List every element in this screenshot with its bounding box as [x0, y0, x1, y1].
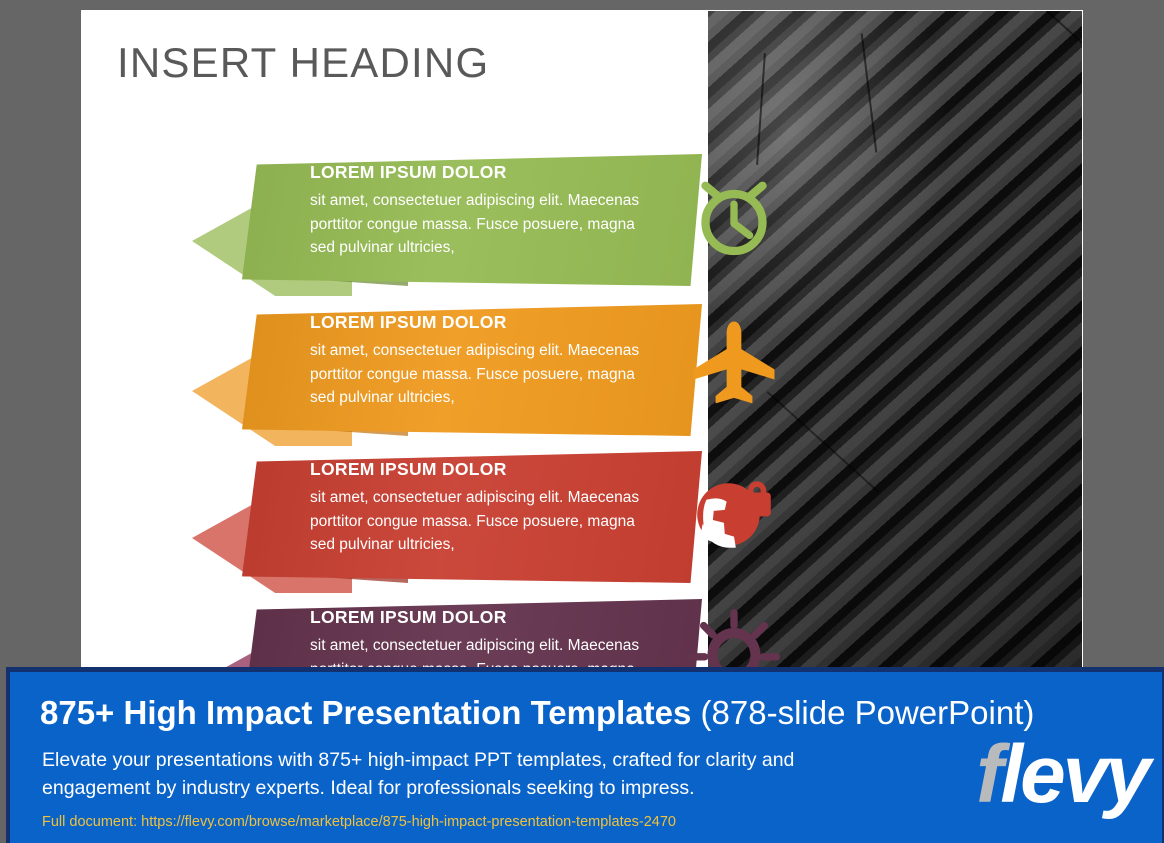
lightbulb-icon [688, 609, 780, 669]
list-item[interactable]: LOREM IPSUM DOLOR sit amet, consectetuer… [192, 591, 702, 669]
globe-lock-icon [688, 463, 780, 555]
promo-title-strong: 875+ High Impact Presentation Templates [40, 694, 691, 731]
banner-content: LOREM IPSUM DOLOR sit amet, consectetuer… [310, 607, 650, 669]
list-item[interactable]: LOREM IPSUM DOLOR sit amet, consectetuer… [192, 146, 702, 296]
flevy-logo[interactable]: flevy [976, 734, 1148, 816]
list-item[interactable]: LOREM IPSUM DOLOR sit amet, consectetuer… [192, 443, 702, 593]
airplane-icon [688, 316, 780, 408]
banner-title: LOREM IPSUM DOLOR [310, 459, 650, 480]
banner-text: sit amet, consectetuer adipiscing elit. … [310, 486, 650, 557]
promo-title: 875+ High Impact Presentation Templates … [40, 694, 1034, 732]
alarm-clock-icon [688, 171, 780, 263]
promo-footer: 875+ High Impact Presentation Templates … [6, 667, 1164, 843]
promo-title-light: (878-slide PowerPoint) [691, 694, 1034, 731]
list-item[interactable]: LOREM IPSUM DOLOR sit amet, consectetuer… [192, 296, 702, 446]
flevy-logo-f: f [976, 729, 1000, 820]
promo-description: Elevate your presentations with 875+ hig… [42, 747, 832, 802]
page-root: INSERT HEADING LOREM IPSUM DOLOR sit ame… [0, 0, 1164, 843]
banner-title: LOREM IPSUM DOLOR [310, 312, 650, 333]
banner-title: LOREM IPSUM DOLOR [310, 162, 650, 183]
flevy-logo-levy: levy [1000, 729, 1148, 820]
page-title: INSERT HEADING [117, 39, 489, 87]
banner-content: LOREM IPSUM DOLOR sit amet, consectetuer… [310, 162, 650, 260]
promo-document-link[interactable]: Full document: https://flevy.com/browse/… [42, 814, 676, 830]
banner-content: LOREM IPSUM DOLOR sit amet, consectetuer… [310, 459, 650, 557]
slide-canvas: INSERT HEADING LOREM IPSUM DOLOR sit ame… [81, 10, 1083, 669]
banner-text: sit amet, consectetuer adipiscing elit. … [310, 189, 650, 260]
banner-text: sit amet, consectetuer adipiscing elit. … [310, 339, 650, 410]
banner-content: LOREM IPSUM DOLOR sit amet, consectetuer… [310, 312, 650, 410]
banner-text: sit amet, consectetuer adipiscing elit. … [310, 634, 650, 669]
banner-title: LOREM IPSUM DOLOR [310, 607, 650, 628]
